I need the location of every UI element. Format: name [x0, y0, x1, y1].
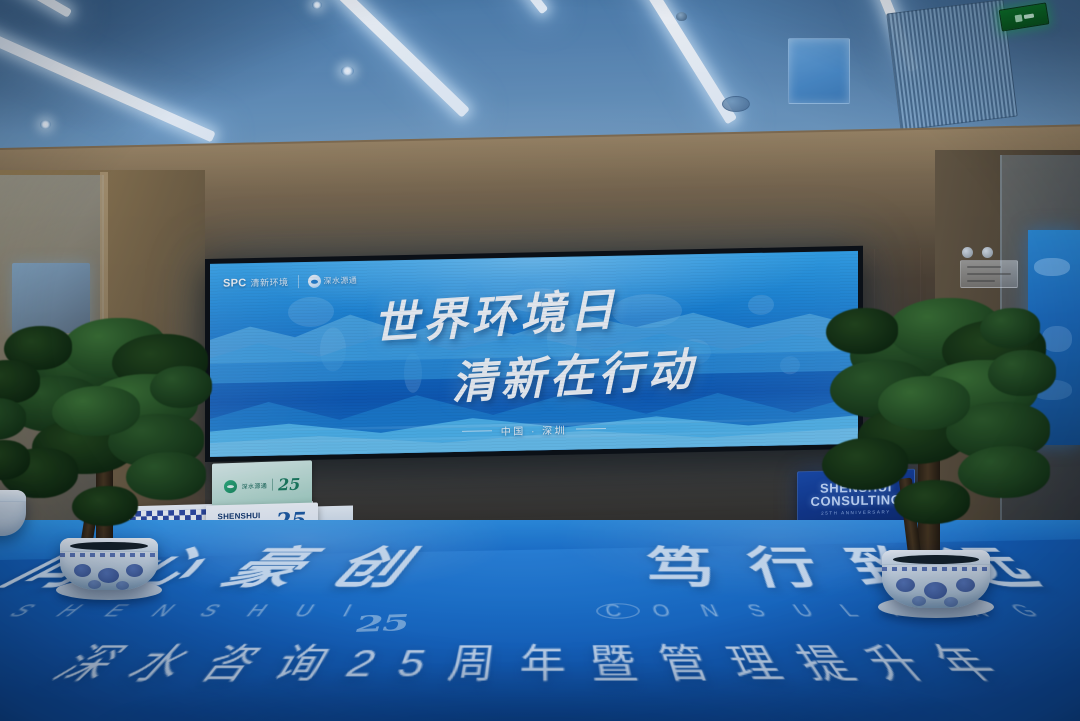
wall-indicator-lights: [962, 247, 993, 258]
left-edge-pot: [0, 490, 26, 536]
left-edge-foliage: [0, 360, 50, 550]
led-brand-logos: SPC 清新环境 深水源通: [223, 274, 357, 290]
exit-running-man-icon: [1014, 14, 1022, 22]
floor-pinyin-right: CONSULTING: [604, 603, 1079, 620]
shenshui-ring-icon: 深水源通: [308, 274, 358, 288]
ring-glyph: [308, 275, 321, 288]
left-plant-pot: [60, 538, 158, 590]
pot-soil-2: [893, 555, 979, 564]
subtitle-text: 中国 · 深圳: [501, 422, 567, 438]
floor-anniversary-number: 25: [356, 610, 409, 638]
ceiling-downlight-3: [312, 1, 322, 9]
shenshui-bubble-icon: [224, 479, 237, 492]
headline-line-2: 清新在行动: [450, 332, 697, 411]
ceiling-speaker-2: [722, 96, 750, 112]
floor-swoosh-icon: [596, 603, 640, 619]
led-screen-content: SPC 清新环境 深水源通 世界环境日 清新在行动 中国 · 深圳: [210, 251, 858, 457]
subtitle-rule-right: [576, 428, 606, 430]
ceiling-downlight-2: [341, 66, 354, 76]
exit-arrow-icon: [1023, 14, 1034, 20]
podium-divider: [272, 479, 273, 491]
spc-logo-chinese: 清新环境: [251, 275, 289, 289]
podium-anniversary-number: 25: [278, 474, 300, 494]
subtitle-rule-left: [462, 430, 492, 432]
podium-chinese-label: 深水源通: [242, 480, 268, 490]
ceiling-air-vent: [886, 0, 1018, 131]
spc-logo-mark: SPC: [223, 277, 247, 289]
right-plant-pot: [882, 550, 990, 608]
led-video-wall[interactable]: SPC 清新环境 深水源通 世界环境日 清新在行动 中国 · 深圳: [205, 246, 863, 462]
pot-rim-2: [0, 490, 26, 502]
shenshui-logo-chinese: 深水源通: [324, 275, 358, 287]
spc-logo-icon: SPC 清新环境: [223, 275, 289, 289]
lobby-photo-scene: SPC 清新环境 深水源通 世界环境日 清新在行动 中国 · 深圳: [0, 0, 1080, 721]
floor-caption: 深水咨询25周年暨管理提升年: [38, 633, 1043, 690]
ceiling-downlight-1: [40, 120, 51, 129]
right-potted-plant: [830, 268, 1060, 598]
logo-divider: [298, 275, 299, 288]
floor-pinyin-left: SHENSHUI: [1, 603, 386, 620]
led-headline: 世界环境日 清新在行动: [210, 267, 858, 418]
security-camera-icon: [676, 12, 687, 21]
ceiling-skylight-panel: [788, 38, 850, 104]
